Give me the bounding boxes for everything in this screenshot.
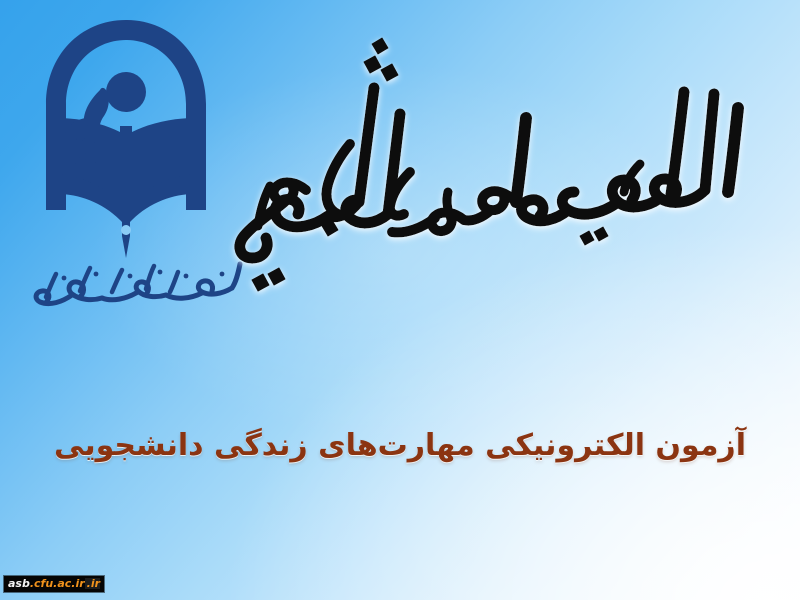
watermark-part-c: .ir: [85, 578, 100, 589]
site-watermark: asb .cfu.ac.ir .ir: [4, 576, 104, 592]
page-title-text: اطلاعیه امور دانشجویی: [774, 321, 775, 322]
university-emblem-icon: [36, 14, 216, 262]
poster-subtitle: آزمون الکترونیکی مهارت‌های زندگی دانشجوی…: [0, 424, 800, 468]
watermark-part-a: asb: [8, 578, 30, 589]
watermark-part-b: .cfu.ac.ir: [30, 578, 85, 589]
university-wordmark-label: دانشگاه فرهنگیان: [258, 13, 259, 14]
page-title: اطلاعیه امور دانشجویی: [214, 22, 774, 322]
poster-canvas: دانشگاه فرهنگیان: [0, 0, 800, 600]
